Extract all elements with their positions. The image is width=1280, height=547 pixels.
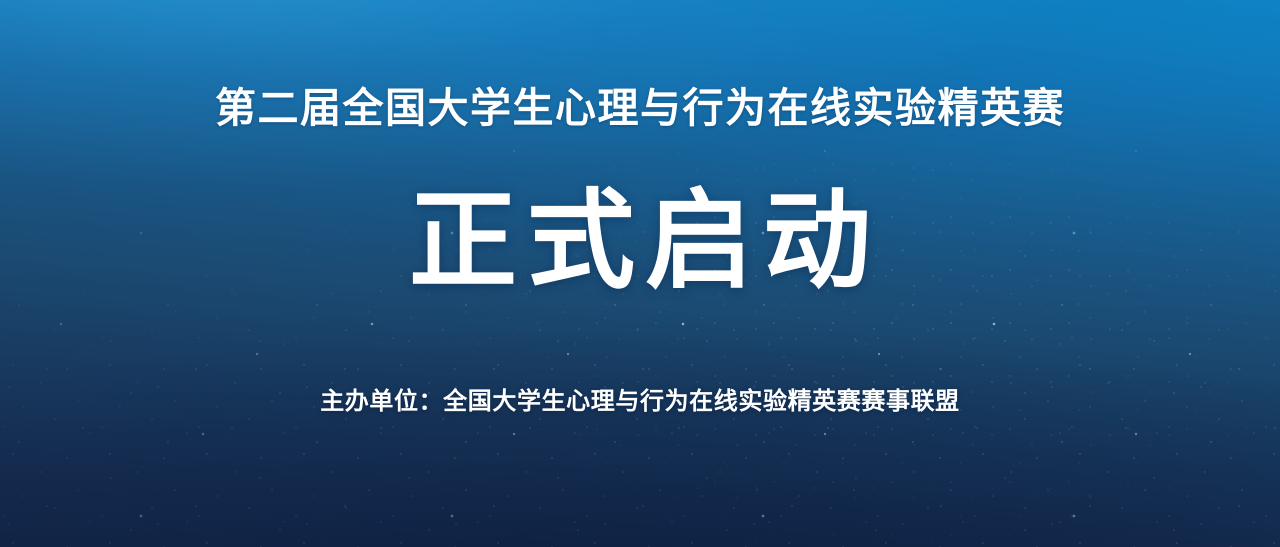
event-launch-banner: 第二届全国大学生心理与行为在线实验精英赛 正式启动 主办单位：全国大学生心理与行… <box>0 0 1280 547</box>
event-title: 第二届全国大学生心理与行为在线实验精英赛 <box>215 88 1065 129</box>
banner-content: 第二届全国大学生心理与行为在线实验精英赛 正式启动 主办单位：全国大学生心理与行… <box>0 0 1280 547</box>
launch-headline: 正式启动 <box>399 187 881 295</box>
organizer-line: 主办单位：全国大学生心理与行为在线实验精英赛赛事联盟 <box>0 390 1280 414</box>
